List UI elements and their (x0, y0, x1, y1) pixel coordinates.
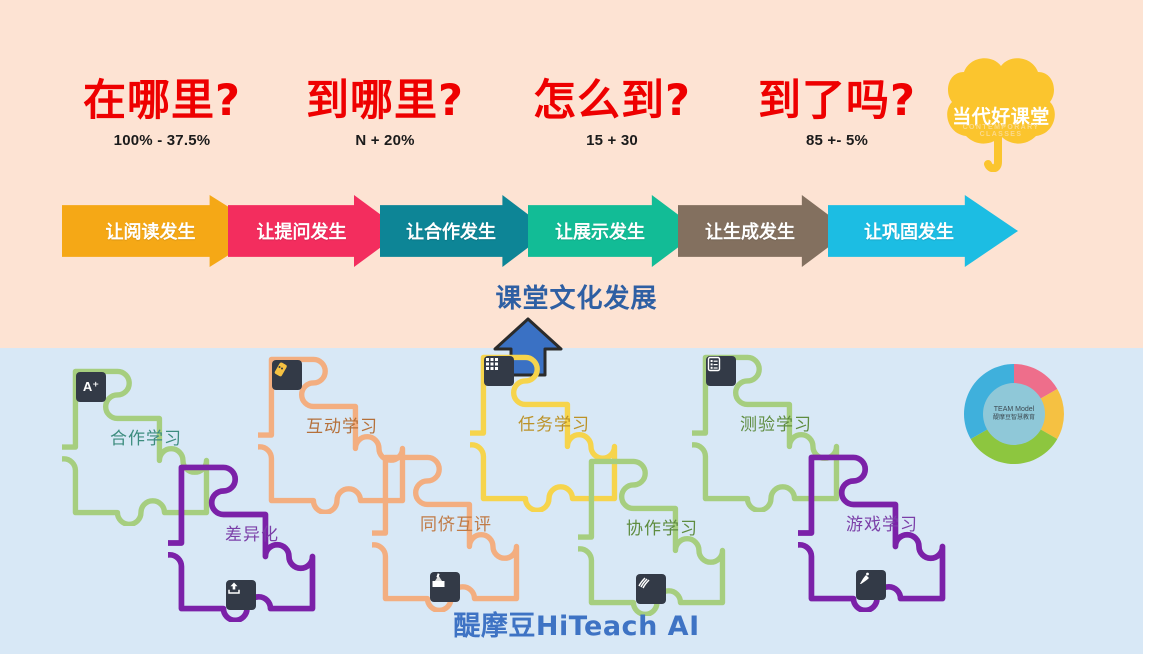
grade-a-plus-icon: A⁺ (76, 372, 106, 402)
puzzle-piece-label: 协作学习 (578, 514, 746, 539)
question-group-4: 到了吗? 85 +- 5% (757, 80, 917, 149)
ballot-box-icon (430, 572, 460, 602)
process-arrow-3[interactable]: 让合作发生 (380, 195, 550, 267)
puzzle-piece-peer-review[interactable]: 同侪互评 (372, 444, 540, 612)
product-title: 醍摩豆HiTeach AI (0, 604, 1153, 643)
handshake-icon (636, 574, 666, 604)
puzzle-piece-label: 互动学习 (258, 412, 426, 437)
puzzle-piece-label: 同侪互评 (372, 510, 540, 535)
puzzle-piece-collaborative-learning[interactable]: 协作学习 (578, 448, 746, 616)
process-arrow-2[interactable]: 让提问发生 预检题(3) (228, 195, 403, 267)
process-arrow-label: 让生成发生 (705, 218, 795, 244)
question-title: 到了吗? (757, 80, 917, 123)
puzzle-piece-label: 差异化 (168, 520, 336, 545)
question-subtitle: 15 + 30 (532, 132, 692, 149)
slide-canvas: 在哪里? 100% - 37.5% 到哪里? N + 20% 怎么到? 15 +… (0, 0, 1153, 654)
question-group-3: 怎么到? 15 + 30 (532, 80, 692, 149)
puzzle-piece-label: 游戏学习 (798, 510, 966, 535)
process-arrow-label: 让阅读发生 (106, 218, 196, 244)
culture-label: 课堂文化发展 (0, 278, 1153, 315)
clicker-remote-icon (272, 360, 302, 390)
contemporary-classes-logo: 当代好课堂 CONTEMPORARY CLASSES (940, 52, 1062, 172)
process-arrow-band: 让阅读发生 让提问发生 预检题(3) 让合作发生 让展示发生 让生成发生 让巩固… (0, 195, 1153, 267)
process-arrow-5[interactable]: 让生成发生 (678, 195, 850, 267)
question-group-1: 在哪里? 100% - 37.5% (82, 80, 242, 149)
question-subtitle: 85 +- 5% (757, 132, 917, 149)
puzzle-piece-game-learning[interactable]: 游戏学习 (798, 444, 966, 612)
process-arrow-label: 让展示发生 (555, 218, 645, 244)
process-arrow-4[interactable]: 让展示发生 (528, 195, 700, 267)
logo-en-text: CONTEMPORARY CLASSES (940, 124, 1062, 138)
question-title: 到哪里? (305, 80, 465, 123)
process-arrow-label: 让合作发生 (406, 218, 496, 244)
checklist-icon (706, 356, 736, 386)
puzzle-piece-label: 合作学习 (62, 424, 230, 449)
question-title: 在哪里? (82, 80, 242, 123)
puzzle-piece-label: 测验学习 (692, 410, 860, 435)
team-model-title: TEAM Model (994, 406, 1034, 415)
process-arrow-label: 让巩固发生 (864, 218, 954, 244)
process-arrow-label: 让提问发生 (257, 218, 347, 244)
game-dice-icon (856, 570, 886, 600)
question-subtitle: N + 20% (305, 132, 465, 149)
grid-tasks-icon (484, 356, 514, 386)
question-subtitle: 100% - 37.5% (82, 132, 242, 149)
question-title: 怎么到? (532, 80, 692, 123)
puzzle-piece-differentiation[interactable]: 差异化 (168, 454, 336, 622)
team-model-subtitle: 醍摩豆智慧教育 (993, 415, 1035, 423)
puzzle-piece-label: 任务学习 (470, 410, 638, 435)
question-group-2: 到哪里? N + 20% (305, 80, 465, 149)
process-arrow-6[interactable]: 让巩固发生 巩固题(3) (828, 195, 1018, 267)
team-model-center: TEAM Model 醍摩豆智慧教育 (984, 384, 1044, 444)
team-model-badge: TEAM Model 醍摩豆智慧教育 (958, 358, 1070, 470)
